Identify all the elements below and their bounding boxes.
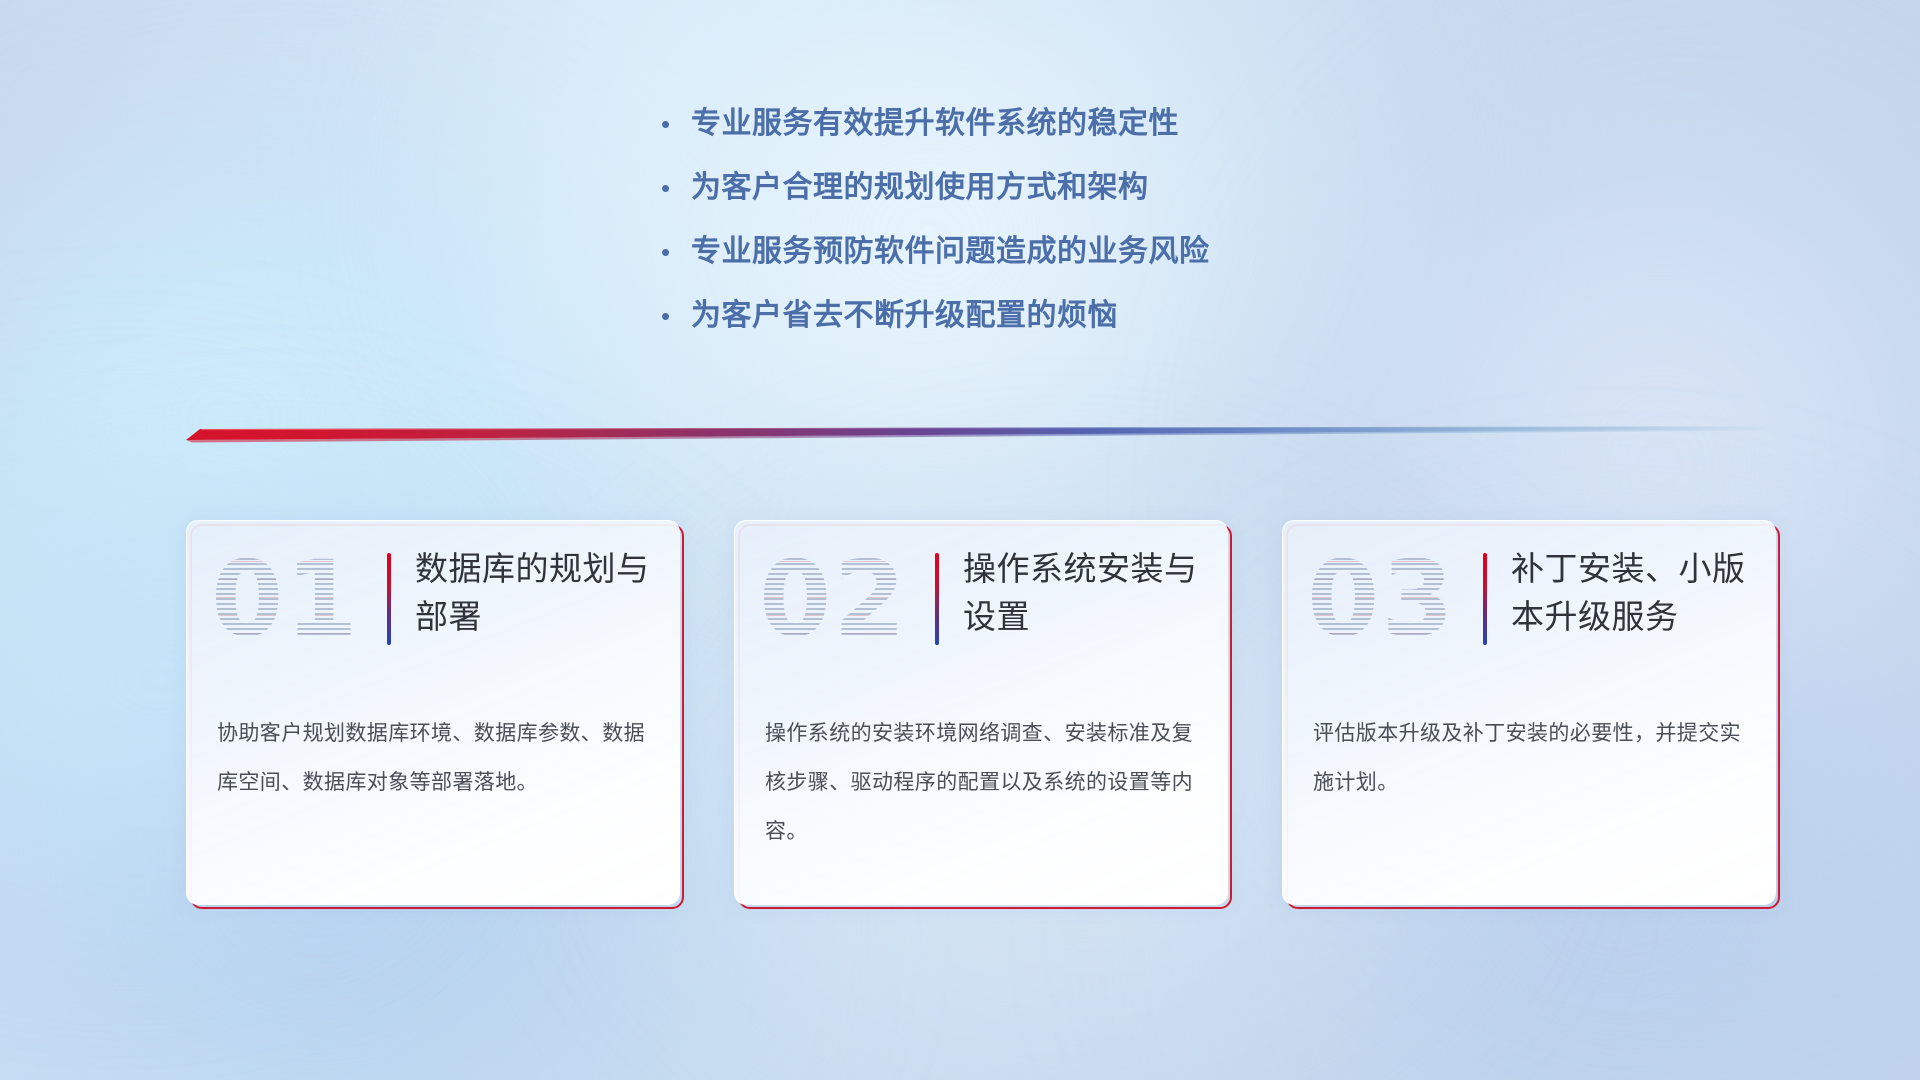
card-header: 02 操作系统安装与设置: [735, 521, 1228, 671]
card-description: 评估版本升级及补丁安装的必要性，并提交实施计划。: [1313, 709, 1753, 807]
card-number: 01: [211, 543, 371, 655]
slide-canvas: • 专业服务有效提升软件系统的稳定性 • 为客户合理的规划使用方式和架构 • 专…: [0, 0, 1920, 1080]
bullet-marker-icon: •: [655, 296, 691, 336]
benefits-bullet-list: • 专业服务有效提升软件系统的稳定性 • 为客户合理的规划使用方式和架构 • 专…: [655, 104, 1555, 360]
bullet-label: 专业服务有效提升软件系统的稳定性: [691, 104, 1179, 144]
card-description: 操作系统的安装环境网络调查、安装标准及复核步骤、驱动程序的配置以及系统的设置等内…: [765, 709, 1205, 856]
divider-wedge-icon: [186, 424, 1766, 446]
card-title: 操作系统安装与设置: [963, 545, 1209, 641]
service-card-02[interactable]: 02 操作系统安装与设置 操作系统的安装环境网络调查、安装标准及复核步骤、驱动程…: [734, 520, 1228, 905]
card-accent-bar: [935, 553, 939, 645]
card-title: 补丁安装、小版本升级服务: [1511, 545, 1757, 641]
card-surface: 01 数据库的规划与部署 协助客户规划数据库环境、数据库参数、数据库空间、数据库…: [186, 520, 680, 905]
bullet-label: 为客户合理的规划使用方式和架构: [691, 168, 1149, 208]
section-divider: [186, 424, 1766, 446]
card-header: 01 数据库的规划与部署: [187, 521, 680, 671]
list-item: • 专业服务预防软件问题造成的业务风险: [655, 232, 1555, 296]
service-card-03[interactable]: 03 补丁安装、小版本升级服务 评估版本升级及补丁安装的必要性，并提交实施计划。: [1282, 520, 1776, 905]
card-number: 03: [1307, 543, 1467, 655]
card-header: 03 补丁安装、小版本升级服务: [1283, 521, 1776, 671]
bullet-marker-icon: •: [655, 168, 691, 208]
card-surface: 02 操作系统安装与设置 操作系统的安装环境网络调查、安装标准及复核步骤、驱动程…: [734, 520, 1228, 905]
card-surface: 03 补丁安装、小版本升级服务 评估版本升级及补丁安装的必要性，并提交实施计划。: [1282, 520, 1776, 905]
service-card-row: 01 数据库的规划与部署 协助客户规划数据库环境、数据库参数、数据库空间、数据库…: [186, 520, 1776, 905]
bullet-label: 为客户省去不断升级配置的烦恼: [691, 296, 1118, 336]
list-item: • 为客户合理的规划使用方式和架构: [655, 168, 1555, 232]
service-card-01[interactable]: 01 数据库的规划与部署 协助客户规划数据库环境、数据库参数、数据库空间、数据库…: [186, 520, 680, 905]
list-item: • 专业服务有效提升软件系统的稳定性: [655, 104, 1555, 168]
bullet-marker-icon: •: [655, 104, 691, 144]
card-description: 协助客户规划数据库环境、数据库参数、数据库空间、数据库对象等部署落地。: [217, 709, 657, 807]
list-item: • 为客户省去不断升级配置的烦恼: [655, 296, 1555, 360]
card-title: 数据库的规划与部署: [415, 545, 661, 641]
bullet-marker-icon: •: [655, 232, 691, 272]
bullet-label: 专业服务预防软件问题造成的业务风险: [691, 232, 1210, 272]
card-number: 02: [759, 543, 919, 655]
card-accent-bar: [387, 553, 391, 645]
card-accent-bar: [1483, 553, 1487, 645]
